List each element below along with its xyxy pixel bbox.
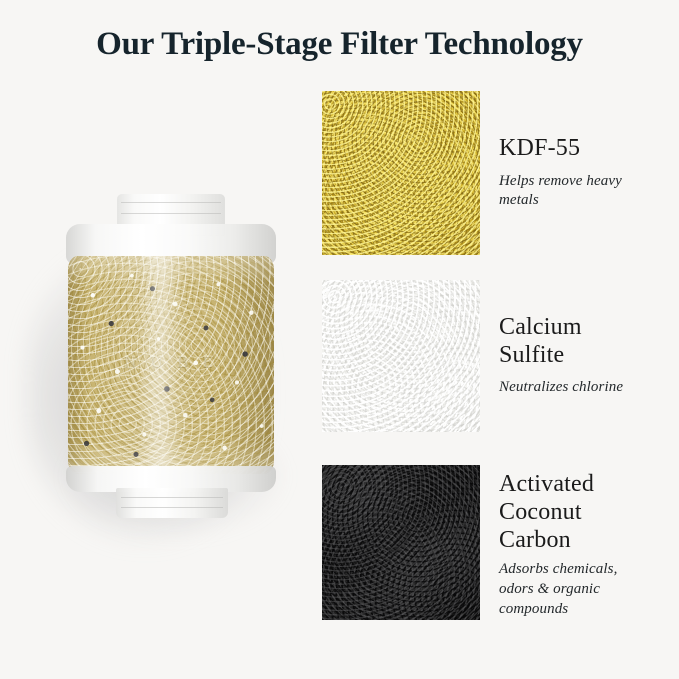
kdf-55-label-block: KDF-55 Helps remove heavy metals [480, 91, 662, 255]
product-image: N U B E [18, 170, 318, 590]
ingredient-row-kdf-55: KDF-55 Helps remove heavy metals [322, 91, 662, 255]
filter-cartridge: N U B E [60, 194, 282, 524]
ingredient-row-calcium-sulfite: Calcium Sulfite Neutralizes chlorine [322, 280, 662, 432]
calcium-sulfite-swatch [322, 280, 480, 432]
kdf-55-swatch [322, 91, 480, 255]
kdf-55-description: Helps remove heavy metals [499, 172, 662, 212]
activated-carbon-description: Adsorbs chemicals, odors & organic compo… [499, 560, 662, 619]
filter-technology-infographic: Our Triple-Stage Filter Technology N U B… [0, 0, 679, 679]
calcium-sulfite-name-line-2: Sulfite [499, 342, 564, 368]
activated-carbon-name-line-3: Carbon [499, 527, 571, 553]
calcium-sulfite-name-line-1: Calcium [499, 314, 582, 340]
activated-carbon-name-line-2: Coconut [499, 499, 582, 525]
activated-carbon-swatch [322, 465, 480, 620]
activated-carbon-name-line-1: Activated [499, 471, 594, 497]
activated-carbon-name: Activated Coconut Carbon [499, 471, 662, 554]
calcium-sulfite-label-block: Calcium Sulfite Neutralizes chlorine [480, 280, 662, 432]
activated-carbon-description-line-2: odors & organic [499, 581, 600, 597]
activated-carbon-description-line-3: compounds [499, 601, 568, 617]
activated-carbon-description-line-1: Adsorbs chemicals, [499, 561, 617, 577]
cartridge-barrel: N U B E [68, 256, 274, 474]
calcium-sulfite-description: Neutralizes chlorine [499, 378, 662, 398]
cartridge-bottom-thread [116, 488, 228, 518]
ingredient-list: KDF-55 Helps remove heavy metals Calcium… [322, 91, 662, 620]
calcium-sulfite-name: Calcium Sulfite [499, 314, 662, 370]
kdf-55-name: KDF-55 [499, 135, 662, 163]
page-title: Our Triple-Stage Filter Technology [0, 26, 679, 63]
ingredient-row-activated-carbon: Activated Coconut Carbon Adsorbs chemica… [322, 465, 662, 620]
activated-carbon-label-block: Activated Coconut Carbon Adsorbs chemica… [480, 465, 662, 626]
cartridge-gloss-highlight [68, 256, 274, 474]
